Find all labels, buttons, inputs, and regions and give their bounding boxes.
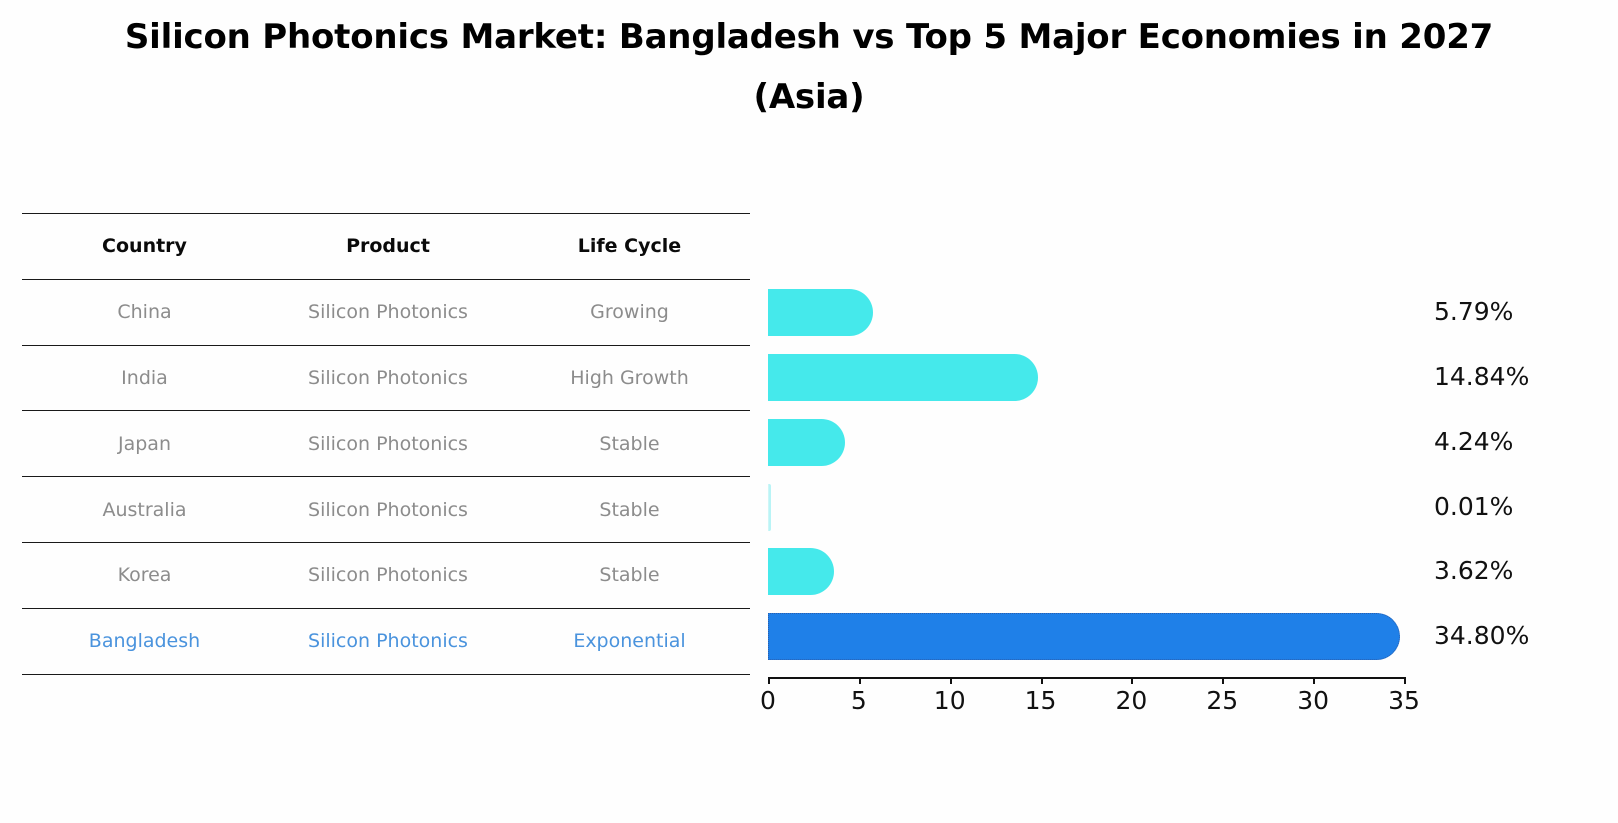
cell-life-cycle: Stable	[509, 411, 750, 477]
cell-life-cycle: Stable	[509, 477, 750, 543]
cell-product: Silicon Photonics	[267, 279, 509, 345]
x-axis-tick	[1222, 677, 1224, 684]
table-row: India Silicon Photonics High Growth	[22, 345, 750, 411]
cell-country: Bangladesh	[22, 608, 267, 674]
data-table-wrapper: Country Product Life Cycle China Silicon…	[22, 213, 750, 675]
table-body: China Silicon Photonics Growing India Si…	[22, 279, 750, 674]
cell-product: Silicon Photonics	[267, 345, 509, 411]
cell-country: Australia	[22, 477, 267, 543]
x-axis-tick	[950, 677, 952, 684]
x-axis-tick-label: 20	[1116, 686, 1148, 715]
x-axis-tick-label: 0	[760, 686, 776, 715]
cell-product: Silicon Photonics	[267, 477, 509, 543]
column-header-product: Product	[267, 214, 509, 280]
bar-value-label: 5.79%	[1434, 280, 1513, 345]
chart-canvas: Silicon Photonics Market: Bangladesh vs …	[0, 0, 1618, 823]
cell-product: Silicon Photonics	[267, 608, 509, 674]
cell-product: Silicon Photonics	[267, 542, 509, 608]
cell-country: Korea	[22, 542, 267, 608]
x-axis-tick-label: 5	[851, 686, 867, 715]
cell-country: India	[22, 345, 267, 411]
column-header-country: Country	[22, 214, 267, 280]
bar-track	[768, 604, 1444, 669]
bar-value-label: 34.80%	[1434, 604, 1529, 669]
x-axis-tick	[1131, 677, 1133, 684]
cell-country: Japan	[22, 411, 267, 477]
bar-highlight[interactable]	[768, 613, 1400, 660]
bar-track	[768, 345, 1444, 410]
x-axis-tick	[859, 677, 861, 684]
x-axis-tick-label: 30	[1297, 686, 1329, 715]
bar-value-label: 4.24%	[1434, 410, 1513, 475]
table-row: China Silicon Photonics Growing	[22, 279, 750, 345]
x-axis-line	[768, 677, 1404, 679]
bar-track	[768, 410, 1444, 475]
table-row: Japan Silicon Photonics Stable	[22, 411, 750, 477]
cell-product: Silicon Photonics	[267, 411, 509, 477]
table-row: Australia Silicon Photonics Stable	[22, 477, 750, 543]
bar[interactable]	[768, 289, 873, 336]
bar-value-label: 0.01%	[1434, 475, 1513, 540]
x-axis-tick-label: 25	[1206, 686, 1238, 715]
x-axis-tick-label: 10	[934, 686, 966, 715]
bar[interactable]	[768, 419, 845, 466]
bar[interactable]	[768, 548, 834, 595]
bar-value-label: 3.62%	[1434, 539, 1513, 604]
bar-value-label: 14.84%	[1434, 345, 1529, 410]
chart-title-line-1: Silicon Photonics Market: Bangladesh vs …	[0, 8, 1618, 68]
data-table: Country Product Life Cycle China Silicon…	[22, 213, 750, 675]
bar[interactable]	[768, 354, 1038, 401]
x-axis-tick	[1404, 677, 1406, 684]
bar-track	[768, 475, 1444, 540]
table-row: Korea Silicon Photonics Stable	[22, 542, 750, 608]
x-axis-tick	[768, 677, 770, 684]
cell-country: China	[22, 279, 267, 345]
bar[interactable]	[768, 484, 771, 531]
table-header: Country Product Life Cycle	[22, 214, 750, 280]
bar-track	[768, 539, 1444, 604]
table-header-row: Country Product Life Cycle	[22, 214, 750, 280]
bar-track	[768, 280, 1444, 345]
x-axis-tick	[1041, 677, 1043, 684]
cell-life-cycle: Exponential	[509, 608, 750, 674]
cell-life-cycle: Stable	[509, 542, 750, 608]
table-row-highlight: Bangladesh Silicon Photonics Exponential	[22, 608, 750, 674]
cell-life-cycle: Growing	[509, 279, 750, 345]
chart-title: Silicon Photonics Market: Bangladesh vs …	[0, 8, 1618, 127]
column-header-life-cycle: Life Cycle	[509, 214, 750, 280]
chart-title-line-2: (Asia)	[0, 68, 1618, 128]
x-axis-tick-label: 35	[1388, 686, 1420, 715]
x-axis-tick-label: 15	[1025, 686, 1057, 715]
x-axis-tick	[1313, 677, 1315, 684]
cell-life-cycle: High Growth	[509, 345, 750, 411]
